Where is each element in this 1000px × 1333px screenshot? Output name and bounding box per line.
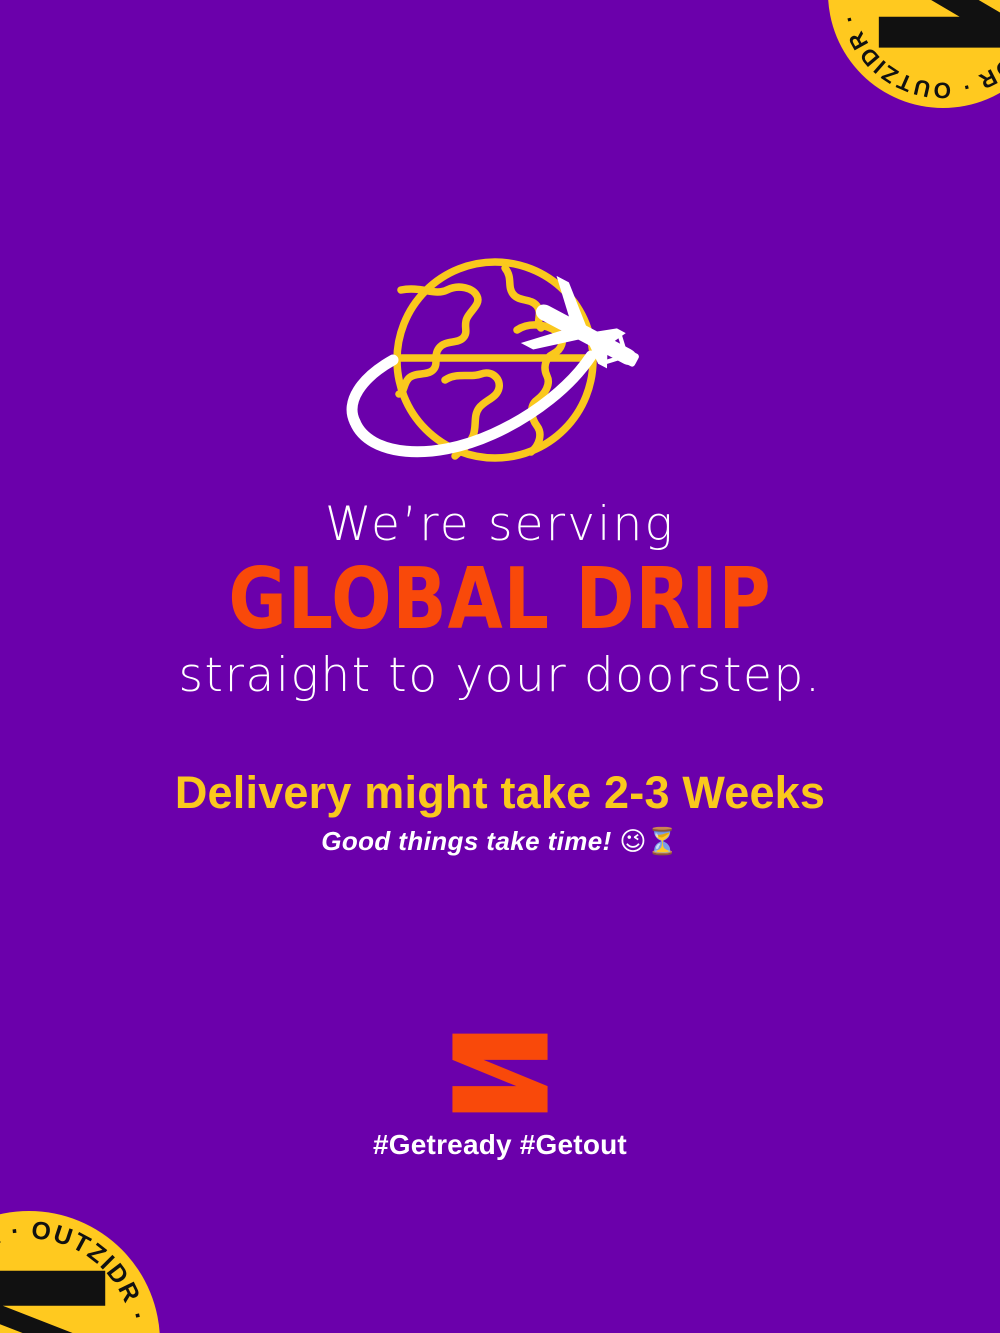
eyebrow-text: We’re serving — [0, 500, 1000, 551]
seal-z-mark-bottom-left: OUTZIDR — [0, 1261, 110, 1333]
outzidr-seal-top-right: OUTZIDR · OUTZIDR · OUTZIDR · OUTZIDR · — [828, 0, 1000, 108]
promo-poster: OUTZIDR · OUTZIDR · OUTZIDR · OUTZIDR · — [0, 0, 1000, 1333]
footer-lockup: #Getready #Getout — [0, 1032, 1000, 1161]
delivery-notice: Delivery might take 2-3 Weeks — [0, 768, 1000, 818]
outzidr-z-logo — [448, 1032, 552, 1114]
hashtags-text: #Getready #Getout — [0, 1129, 1000, 1161]
headline-block: We’re serving GLOBAL DRIP straight to yo… — [0, 500, 1000, 858]
feature-headline: GLOBAL DRIP — [35, 561, 965, 639]
seal-z-mark-top-right — [872, 0, 1000, 64]
hero-illustration — [0, 252, 1000, 472]
delivery-subnote-text: Good things take time! — [321, 826, 611, 856]
tail-text: straight to your doorstep. — [0, 651, 1000, 702]
globe-airplane-icon — [335, 252, 665, 472]
outzidr-seal-bottom-left: OUTZIDR · OUTZIDR · OUTZIDR · OUTZIDR · … — [0, 1211, 160, 1333]
wink-hourglass-emoji: 😉⏳ — [619, 827, 678, 857]
delivery-subnote: Good things take time! 😉⏳ — [0, 827, 1000, 858]
